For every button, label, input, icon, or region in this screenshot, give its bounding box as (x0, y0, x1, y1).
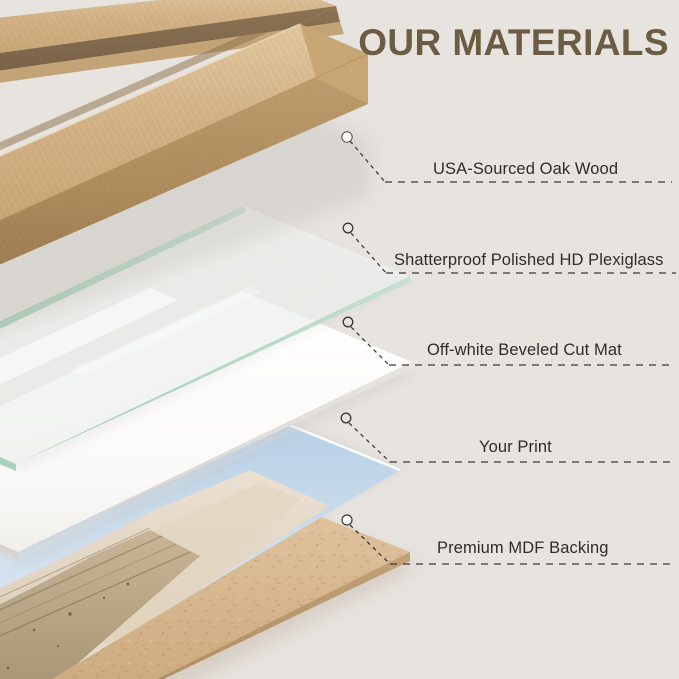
marker-dot-oak-wood (342, 132, 352, 142)
marker-dot-mdf-backing (342, 515, 352, 525)
marker-dot-print (341, 413, 351, 423)
callout-leaders (0, 0, 679, 679)
marker-dot-plexiglass (343, 223, 353, 233)
callout-label-print: Your Print (479, 438, 552, 457)
callout-label-mat: Off-white Beveled Cut Mat (427, 341, 622, 360)
callout-label-mdf-backing: Premium MDF Backing (437, 539, 609, 558)
callout-label-plexiglass: Shatterproof Polished HD Plexiglass (394, 251, 663, 270)
callout-label-oak-wood: USA-Sourced Oak Wood (433, 160, 618, 179)
infographic-canvas: OUR MATERIALS (0, 0, 679, 679)
marker-dot-mat (343, 317, 353, 327)
